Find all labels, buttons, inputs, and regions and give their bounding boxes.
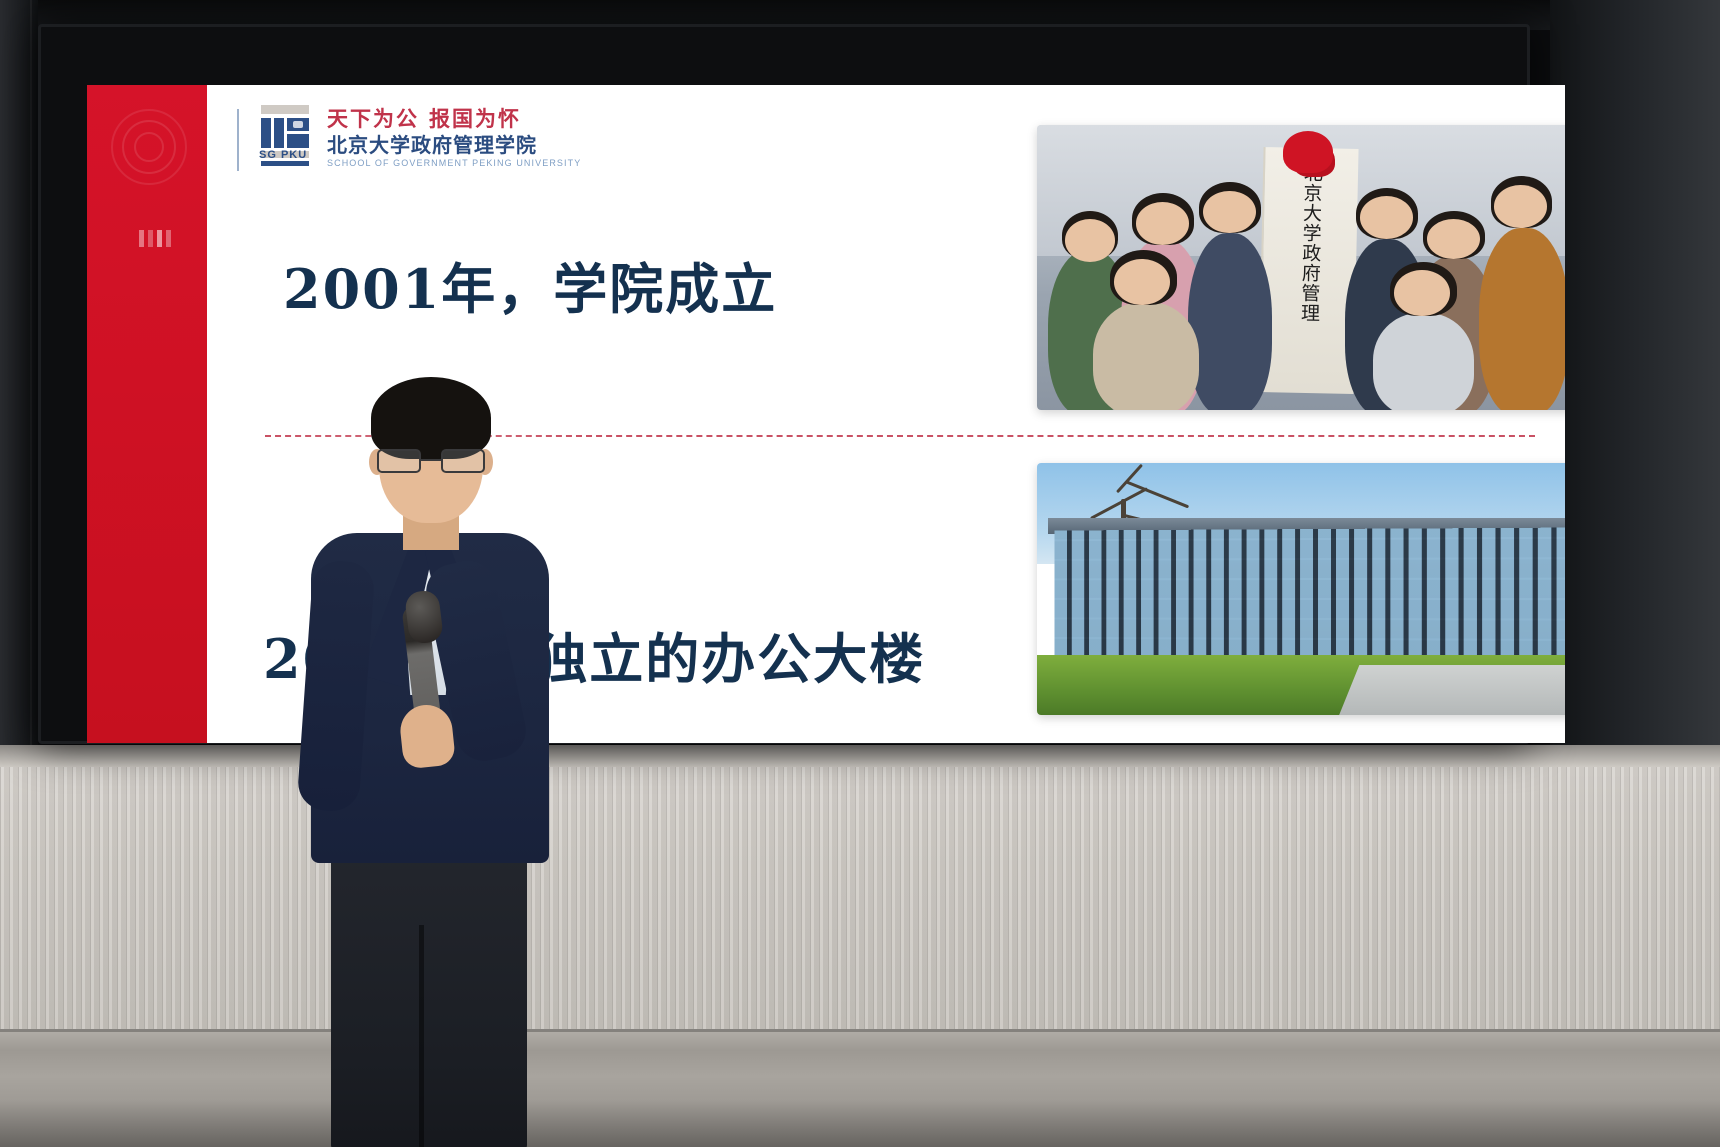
logo-divider-rule <box>237 109 239 171</box>
red-ribbon-icon <box>1283 131 1333 173</box>
group-photo-students: 北京大学政府管理 <box>1037 125 1565 410</box>
presenter-glasses-icon <box>377 449 485 473</box>
logo-motto-right: 报国为怀 <box>429 107 521 131</box>
school-logo: SG PKU 天下为公报国为怀 北京大学政府管理学院 SCHOOL OF GOV… <box>237 105 581 171</box>
presenter-legs <box>331 851 527 1147</box>
left-wall-panel <box>0 0 38 745</box>
lower-wall-top-band <box>0 745 1720 767</box>
logo-school-name-en: SCHOOL OF GOVERNMENT PEKING UNIVERSITY <box>327 158 581 168</box>
baseboard-edge <box>0 1029 1720 1032</box>
pku-seal-icon <box>111 109 187 185</box>
radiator-ribs <box>0 767 1720 1029</box>
decorative-ticks <box>139 230 171 247</box>
display-bezel[interactable]: SG PKU 天下为公报国为怀 北京大学政府管理学院 SCHOOL OF GOV… <box>38 24 1530 744</box>
photo-banner: 北京大学政府管理 <box>1258 147 1358 394</box>
logo-motto-line: 天下为公报国为怀 <box>327 107 581 131</box>
right-wall-panel <box>1550 0 1720 745</box>
floor-shadow <box>0 1100 1720 1147</box>
sg-pku-logomark-icon: SG PKU <box>255 105 311 167</box>
scene-root: SG PKU 天下为公报国为怀 北京大学政府管理学院 SCHOOL OF GOV… <box>0 0 1720 1147</box>
logo-mark-label: SG PKU <box>259 149 307 161</box>
logo-motto-left: 天下为公 <box>327 107 419 131</box>
presenter-figure <box>295 365 555 1147</box>
school-building-photo <box>1037 463 1565 715</box>
slide-line-1: 2001年，学院成立 <box>283 245 777 324</box>
photo-banner-text: 北京大学政府管理 <box>1298 162 1322 322</box>
presenter-leg-separation <box>419 925 424 1147</box>
presenter-hair <box>371 377 491 459</box>
left-wall-seam <box>30 0 32 745</box>
slide-accent-bar <box>87 85 207 743</box>
logo-school-name-cn: 北京大学政府管理学院 <box>327 133 581 157</box>
logo-text-block: 天下为公报国为怀 北京大学政府管理学院 SCHOOL OF GOVERNMENT… <box>327 105 581 168</box>
